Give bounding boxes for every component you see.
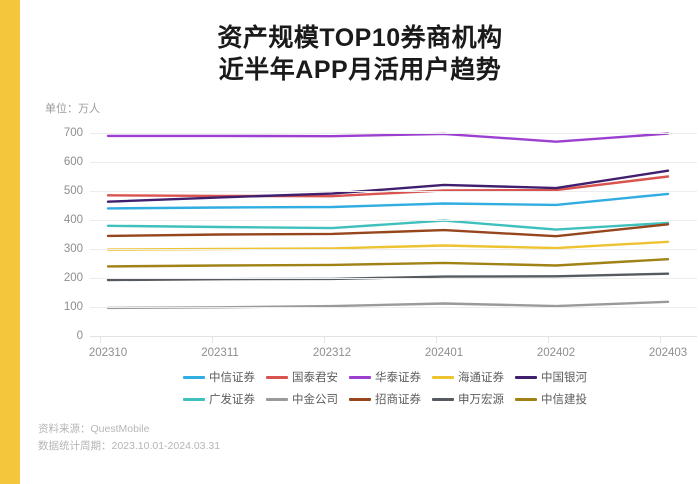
- legend-swatch-icon: [266, 376, 288, 379]
- infographic-poster: 资产规模TOP10券商机构 近半年APP月活用户趋势 单位：万人 0100200…: [0, 0, 700, 484]
- legend-swatch-icon: [349, 376, 371, 379]
- y-axis-tick-label: 400: [64, 214, 83, 226]
- legend-swatch-icon: [432, 376, 454, 379]
- gridline-y-0: [90, 336, 697, 337]
- x-axis-tick-label: 202312: [313, 347, 351, 359]
- x-axis-tick: [212, 336, 213, 343]
- accent-bar-left: [0, 0, 20, 484]
- legend-label: 国泰君安: [292, 369, 338, 385]
- y-axis-tick-label: 200: [64, 272, 83, 284]
- legend-item-招商证券[interactable]: 招商证券: [349, 391, 421, 407]
- legend-label: 中国银河: [541, 369, 587, 385]
- gridline-y-200: [90, 278, 697, 279]
- legend-label: 海通证券: [458, 369, 504, 385]
- x-axis-tick: [324, 336, 325, 343]
- line-chart: 0100200300400500600700202310202311202312…: [43, 126, 688, 342]
- footer-source: 资料来源：QuestMobile: [38, 421, 220, 438]
- axis-unit-label: 单位：万人: [45, 100, 100, 116]
- legend-swatch-icon: [183, 376, 205, 379]
- series-line-国泰君安: [108, 177, 668, 197]
- y-axis-tick-label: 300: [64, 243, 83, 255]
- gridline-y-300: [90, 249, 697, 250]
- legend-label: 中信建投: [541, 391, 587, 407]
- legend-item-申万宏源[interactable]: 申万宏源: [432, 391, 504, 407]
- legend-item-中金公司[interactable]: 中金公司: [266, 391, 338, 407]
- legend-swatch-icon: [266, 398, 288, 401]
- legend-item-国泰君安[interactable]: 国泰君安: [266, 369, 338, 385]
- footer-period: 数据统计周期：2023.10.01-2024.03.31: [38, 438, 220, 455]
- x-axis-tick-label: 202310: [89, 347, 127, 359]
- legend-item-华泰证券[interactable]: 华泰证券: [349, 369, 421, 385]
- legend-item-中国银河[interactable]: 中国银河: [515, 369, 587, 385]
- legend-swatch-icon: [183, 398, 205, 401]
- legend-item-海通证券[interactable]: 海通证券: [432, 369, 504, 385]
- y-axis-tick-label: 0: [77, 330, 83, 342]
- series-line-华泰证券: [108, 134, 668, 142]
- gridline-y-500: [90, 191, 697, 192]
- legend-label: 广发证券: [209, 391, 255, 407]
- gridline-y-600: [90, 162, 697, 163]
- chart-series-layer: [90, 133, 697, 336]
- series-line-申万宏源: [108, 274, 668, 280]
- chart-legend: 中信证券国泰君安华泰证券海通证券中国银河 广发证券中金公司招商证券申万宏源中信建…: [150, 366, 620, 410]
- footer-notes: 资料来源：QuestMobile 数据统计周期：2023.10.01-2024.…: [38, 421, 220, 455]
- x-axis-tick-label: 202401: [425, 347, 463, 359]
- legend-label: 华泰证券: [375, 369, 421, 385]
- y-axis-tick-label: 600: [64, 156, 83, 168]
- legend-item-广发证券[interactable]: 广发证券: [183, 391, 255, 407]
- y-axis-tick-label: 700: [64, 127, 83, 139]
- legend-item-中信建投[interactable]: 中信建投: [515, 391, 587, 407]
- page-title: 资产规模TOP10券商机构 近半年APP月活用户趋势: [150, 22, 570, 86]
- legend-row-bottom: 广发证券中金公司招商证券申万宏源中信建投: [150, 388, 620, 410]
- x-axis-tick: [100, 336, 101, 343]
- x-axis-tick-label: 202402: [537, 347, 575, 359]
- accent-bar-fill: [0, 0, 20, 484]
- gridline-y-100: [90, 307, 697, 308]
- legend-swatch-icon: [515, 398, 537, 401]
- legend-label: 中信证券: [209, 369, 255, 385]
- x-axis-tick: [436, 336, 437, 343]
- legend-swatch-icon: [349, 398, 371, 401]
- series-line-广发证券: [108, 221, 668, 230]
- y-axis-tick-label: 100: [64, 301, 83, 313]
- legend-label: 招商证券: [375, 391, 421, 407]
- x-axis-tick-label: 202403: [649, 347, 687, 359]
- page-title-line1: 资产规模TOP10券商机构: [150, 22, 570, 54]
- gridline-y-700: [90, 133, 697, 134]
- legend-row-top: 中信证券国泰君安华泰证券海通证券中国银河: [150, 366, 620, 388]
- legend-item-中信证券[interactable]: 中信证券: [183, 369, 255, 385]
- legend-label: 申万宏源: [458, 391, 504, 407]
- y-axis-tick-label: 500: [64, 185, 83, 197]
- chart-plot-area: 0100200300400500600700202310202311202312…: [90, 133, 650, 336]
- legend-swatch-icon: [515, 376, 537, 379]
- legend-swatch-icon: [432, 398, 454, 401]
- series-line-中信建投: [108, 259, 668, 266]
- x-axis-tick: [660, 336, 661, 343]
- legend-label: 中金公司: [292, 391, 338, 407]
- page-title-line2: 近半年APP月活用户趋势: [150, 54, 570, 86]
- gridline-y-400: [90, 220, 697, 221]
- x-axis-tick-label: 202311: [201, 347, 239, 359]
- x-axis-tick: [548, 336, 549, 343]
